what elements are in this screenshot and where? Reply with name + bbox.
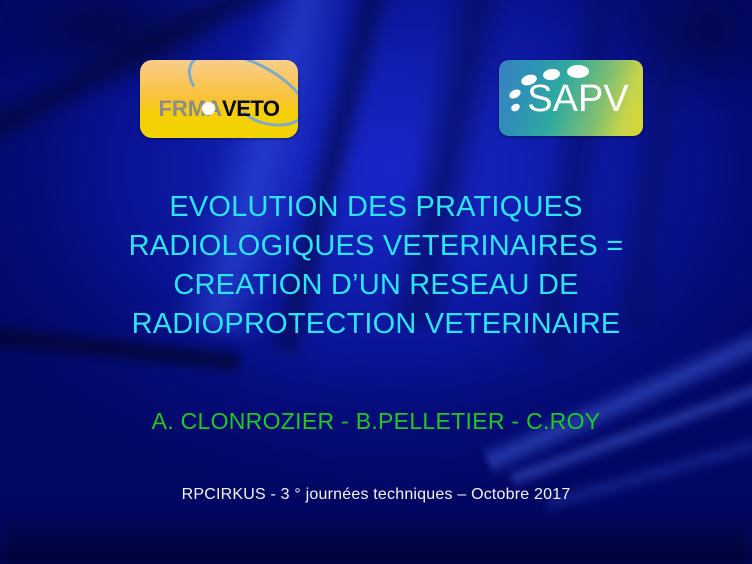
formaveto-logo-text-veto: VETO — [222, 96, 280, 121]
formaveto-logo-o-dot-icon — [202, 102, 215, 115]
background-bottom-shade — [0, 506, 752, 564]
formaveto-logo: FRMAVETO — [140, 60, 298, 138]
slide-title-line-3: CREATION D’UN RESEAU DE — [0, 266, 752, 305]
slide-title-line-1: EVOLUTION DES PRATIQUES — [0, 188, 752, 227]
authors-line: A. CLONROZIER - B.PELLETIER - C.ROY — [0, 408, 752, 436]
formaveto-logo-text: FRMAVETO — [140, 98, 298, 120]
sapv-logo: SAPV — [499, 60, 643, 136]
event-footer: RPCIRKUS - 3 ° journées techniques – Oct… — [0, 485, 752, 504]
sapv-logo-text: SAPV — [499, 80, 643, 118]
slide-title: EVOLUTION DES PRATIQUES RADIOLOGIQUES VE… — [0, 188, 752, 344]
slide-title-line-2: RADIOLOGIQUES VETERINAIRES = — [0, 227, 752, 266]
paw-print-dot-icon — [567, 65, 589, 78]
formaveto-logo-text-forma-f: F — [158, 96, 171, 121]
logo-row: FRMAVETO SAPV — [0, 0, 752, 160]
presentation-title-slide: FRMAVETO SAPV EVOLUTION DES PRATIQUES RA… — [0, 0, 752, 564]
slide-title-line-4: RADIOPROTECTION VETERINAIRE — [0, 305, 752, 344]
